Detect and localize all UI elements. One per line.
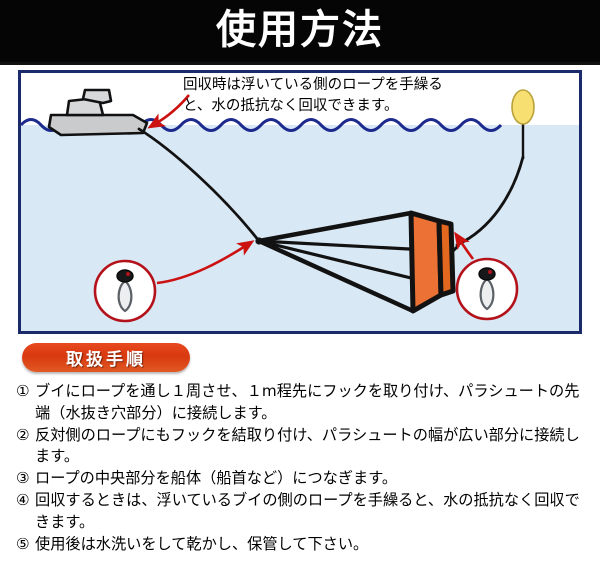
usage-illustration [21, 73, 579, 331]
procedure-step-list: ① ブイにロープを通し１周させ、１m程先にフックを取り付け、パラシュートの先端（… [16, 381, 594, 556]
illustration-panel: 回収時は浮いている側のロープを手繰る と、水の抵抗なく回収できます。 [18, 70, 582, 334]
step-number: ③ [16, 468, 30, 490]
step-text: 回収するときは、浮いているブイの側のロープを手繰ると、水の抵抗なく回収できます。 [35, 491, 580, 531]
procedure-badge-label: 取扱手順 [66, 345, 146, 370]
snap-hook-right [457, 259, 517, 319]
step-number: ② [16, 425, 30, 447]
list-item: ④ 回収するときは、浮いているブイの側のロープを手繰ると、水の抵抗なく回収できま… [16, 490, 594, 533]
step-text: 反対側のロープにもフックを結取り付け、パラシュートの幅が広い部分に接続します。 [35, 426, 580, 466]
step-number: ⑤ [16, 534, 30, 556]
procedure-badge: 取扱手順 [22, 343, 190, 372]
step-text: ロープの中央部分を船体（船首など）につなぎます。 [35, 469, 397, 487]
page-title: 使用方法 [216, 10, 384, 52]
step-number: ④ [16, 490, 30, 512]
step-text: 使用後は水洗いをして乾かし、保管して下さい。 [35, 535, 368, 553]
list-item: ① ブイにロープを通し１周させ、１m程先にフックを取り付け、パラシュートの先端（… [16, 381, 594, 424]
list-item: ⑤ 使用後は水洗いをして乾かし、保管して下さい。 [16, 534, 594, 556]
step-number: ① [16, 381, 30, 403]
section-header-row: 取扱手順 [22, 343, 582, 373]
header-banner: 使用方法 [0, 0, 600, 62]
step-text: ブイにロープを通し１周させ、１m程先にフックを取り付け、パラシュートの先端（水抜… [35, 382, 579, 422]
header-divider [0, 62, 600, 65]
snap-hook-left [95, 261, 155, 321]
list-item: ② 反対側のロープにもフックを結取り付け、パラシュートの幅が広い部分に接続します… [16, 425, 594, 468]
list-item: ③ ロープの中央部分を船体（船首など）につなぎます。 [16, 468, 594, 490]
